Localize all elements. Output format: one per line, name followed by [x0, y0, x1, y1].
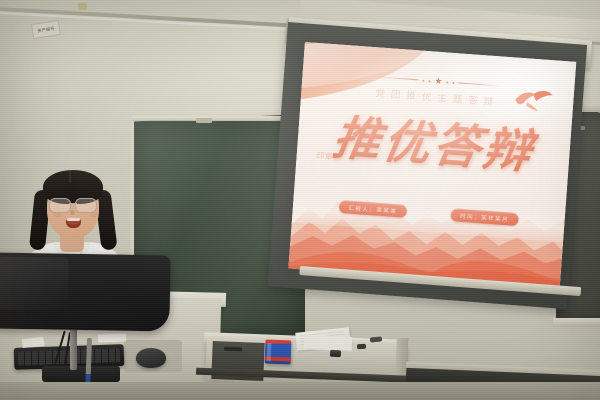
- chalkboard-left-frame-top: [132, 116, 300, 121]
- divider-dot: [452, 81, 454, 83]
- lens-right: [75, 198, 97, 213]
- divider-rule-left: [375, 76, 419, 80]
- classroom-photo: ★ 党团推优主题答辩 推优答辩 印章 汇报人：某某某 时间：某年某月: [0, 0, 600, 400]
- lens-left: [49, 198, 71, 213]
- divider-rule-right: [458, 82, 502, 86]
- slide-seal-decor: 印章: [316, 151, 333, 172]
- desk-small-device[interactable]: [357, 344, 366, 350]
- mouse[interactable]: [136, 348, 166, 368]
- chalkboard-right-ledge: [553, 318, 600, 327]
- presenter-eye-left: [56, 173, 62, 176]
- divider-dot: [428, 80, 430, 82]
- monitor-stand-base: [42, 366, 120, 382]
- ceiling-fixture: [78, 3, 87, 10]
- divider-dot: [446, 81, 448, 83]
- flying-bird-icon: [510, 83, 556, 116]
- desk-clip[interactable]: [330, 350, 341, 358]
- desk-papers-second[interactable]: [304, 335, 352, 351]
- projection-screen-surface: ★ 党团推优主题答辩 推优答辩 印章 汇报人：某某某 时间：某年某月: [288, 42, 576, 288]
- presentation-slide: ★ 党团推优主题答辩 推优答辩 印章 汇报人：某某某 时间：某年某月: [288, 42, 576, 288]
- presenter-hair-part: [69, 171, 71, 183]
- desk-panel-slot: [224, 347, 242, 352]
- presenter-eye-right: [84, 173, 90, 176]
- presenter-teeth: [67, 218, 80, 221]
- eyeglasses-icon: [49, 198, 97, 211]
- keyboard-keys[interactable]: [18, 348, 120, 366]
- monitor-sheen: [0, 257, 69, 311]
- podium-paper: [98, 333, 126, 342]
- presenter-nose: [70, 210, 75, 215]
- classroom-floor: [0, 382, 600, 400]
- juice-box-highlight: [267, 343, 272, 361]
- star-icon: ★: [434, 77, 443, 87]
- chalkboard-clip: [196, 118, 212, 123]
- desktop-monitor[interactable]: [0, 252, 171, 331]
- divider-dot: [422, 79, 424, 81]
